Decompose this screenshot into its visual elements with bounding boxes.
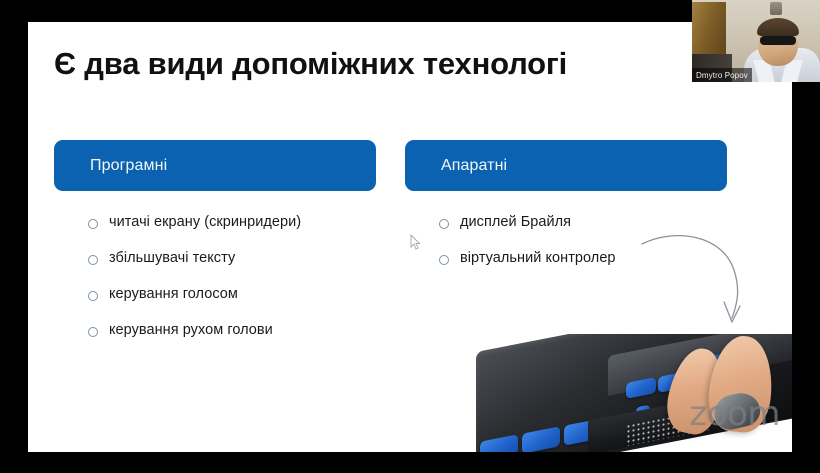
zoom-shared-screen: Є два види допоміжних технологі Програмн… [0,0,820,473]
bullet-list-hardware: дисплей Брайля віртуальний контролер [405,213,727,268]
column-header-hardware: Апаратні [405,140,727,191]
circle-bullet-icon [88,255,98,265]
column-header-software: Програмні [54,140,376,191]
circle-bullet-icon [439,255,449,265]
list-item: віртуальний контролер [405,249,727,268]
list-item: керування рухом голови [54,321,376,340]
circle-bullet-icon [88,327,98,337]
list-item-label: керування рухом голови [109,321,273,340]
braille-display-photo [458,334,792,452]
mouse-pointer-icon [410,234,421,250]
column-hardware: Апаратні дисплей Брайля віртуальний конт… [405,140,727,285]
list-item-label: дисплей Брайля [460,213,571,232]
sunglasses-icon [760,36,796,45]
video-background-lamp [770,2,782,15]
list-item: збільшувачі тексту [54,249,376,268]
participant-video-thumbnail[interactable]: Dmytro Popov [692,0,820,82]
column-software: Програмні читачі екрану (скринридери) зб… [54,140,376,357]
circle-bullet-icon [439,219,449,229]
participant-name-text: Dmytro Popov [696,71,748,80]
bullet-list-software: читачі екрану (скринридери) збільшувачі … [54,213,376,340]
list-item: дисплей Брайля [405,213,727,232]
video-background-wood [692,2,726,60]
list-item-label: віртуальний контролер [460,249,616,268]
circle-bullet-icon [88,219,98,229]
list-item-label: збільшувачі тексту [109,249,235,268]
zoom-watermark: zoom [689,394,780,434]
slide-title: Є два види допоміжних технологі [54,44,567,84]
circle-bullet-icon [88,291,98,301]
presentation-slide: Є два види допоміжних технологі Програмн… [28,22,792,452]
list-item-label: керування голосом [109,285,238,304]
list-item: читачі екрану (скринридери) [54,213,376,232]
list-item: керування голосом [54,285,376,304]
participant-name-label: Dmytro Popov [692,68,752,82]
list-item-label: читачі екрану (скринридери) [109,213,301,232]
